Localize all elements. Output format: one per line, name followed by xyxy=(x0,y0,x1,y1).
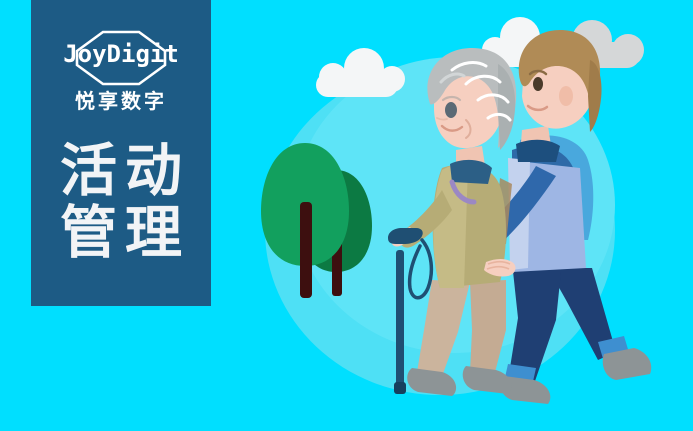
logo-wordmark: JoyDigit xyxy=(31,39,211,69)
elderly-woman-eye xyxy=(445,102,457,118)
cane-tip xyxy=(394,382,406,394)
brand-logo: JoyDigit 悦享数字 xyxy=(31,30,211,130)
page-title: 活动 管理 xyxy=(31,140,211,264)
page-title-line-1: 活动 xyxy=(31,140,211,202)
page-title-line-2: 管理 xyxy=(31,202,211,264)
young-man-collar xyxy=(516,140,560,162)
logo-mark: JoyDigit xyxy=(31,30,211,86)
poster-canvas: JoyDigit 悦享数字 活动 管理 xyxy=(0,0,693,431)
young-man-ear xyxy=(559,86,573,106)
logo-chinese-name: 悦享数字 xyxy=(31,90,211,114)
cane-shaft xyxy=(396,250,404,390)
young-man-eye xyxy=(533,77,543,91)
